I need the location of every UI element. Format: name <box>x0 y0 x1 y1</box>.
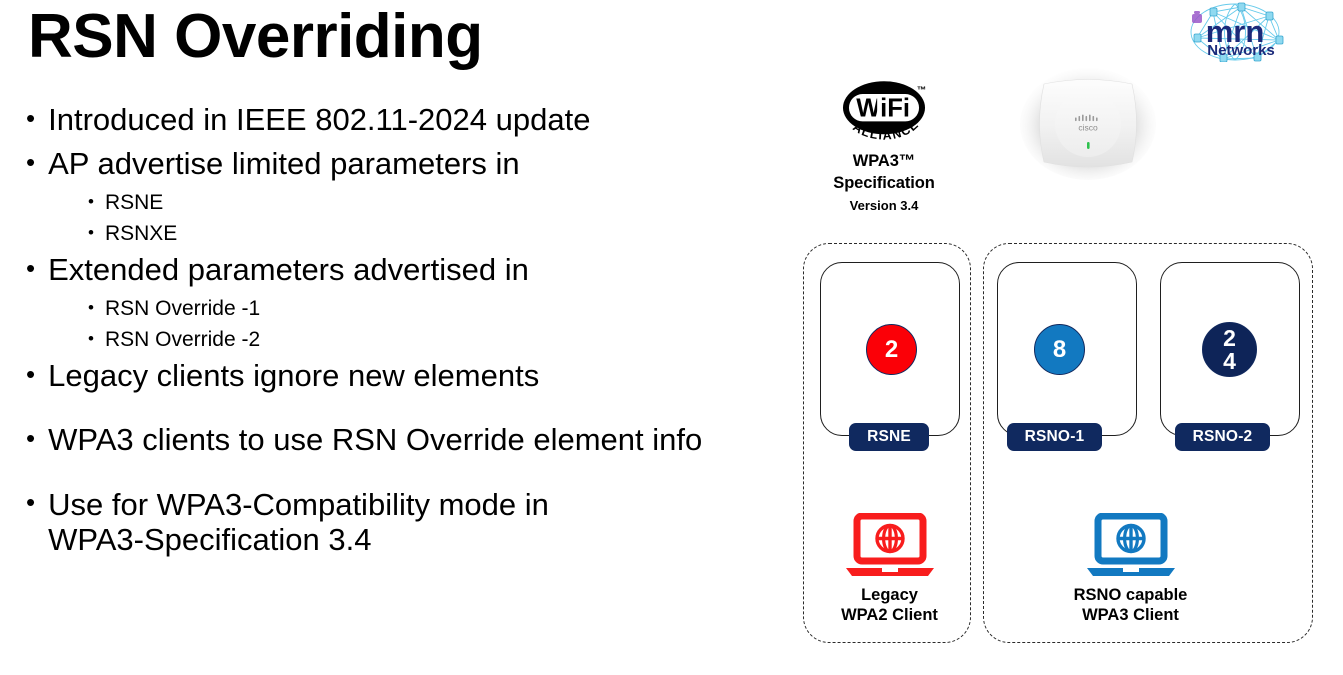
bullet-dot-icon: • <box>88 299 94 316</box>
legacy-client-caption: Legacy WPA2 Client <box>822 585 957 625</box>
caption-line1: RSNO capable <box>1048 585 1213 605</box>
wpa3-version: Version 3.4 <box>805 198 963 213</box>
caption-line2: WPA2 Client <box>822 605 957 625</box>
bullet-dot-icon: • <box>26 489 35 515</box>
bullet-item: •AP advertise limited parameters in <box>26 148 726 179</box>
bullet-text: Introduced in IEEE 802.11-2024 update <box>48 104 726 135</box>
bullet-dot-icon: • <box>88 193 94 210</box>
bullet-dot-icon: • <box>26 425 35 451</box>
bullet-item: •WPA3 clients to use RSN Override elemen… <box>26 424 726 455</box>
bullet-list: •Introduced in IEEE 802.11-2024 update•A… <box>26 104 726 570</box>
bullet-dot-icon: • <box>88 224 94 241</box>
laptop-globe-icon <box>844 513 936 579</box>
rsno-client-block: RSNO capable WPA3 Client <box>1048 513 1213 625</box>
bullet-text: RSN Override -2 <box>105 329 726 350</box>
laptop-globe-icon <box>1085 513 1177 579</box>
bullet-item: •Legacy clients ignore new elements <box>26 360 726 391</box>
circle-value: 8 <box>1053 338 1066 361</box>
bullet-item: •RSNE <box>88 192 726 213</box>
circle-value-top: 2 <box>1223 327 1236 349</box>
wpa3-caption-line1: WPA3™ <box>805 151 963 173</box>
bullet-text: RSNXE <box>105 223 726 244</box>
cisco-access-point-image: cisco <box>1018 62 1158 182</box>
bullet-item: •RSN Override -1 <box>88 298 726 319</box>
bullet-text: AP advertise limited parameters in <box>48 148 726 179</box>
bullet-item: •Use for WPA3-Compatibility mode in WPA3… <box>26 488 726 557</box>
bullet-item: •Extended parameters advertised in <box>26 254 726 285</box>
bullet-item: •RSN Override -2 <box>88 329 726 350</box>
bullet-dot-icon: • <box>26 149 35 175</box>
mrn-submark: Networks <box>1207 42 1275 59</box>
bullet-dot-icon: • <box>88 330 94 347</box>
legacy-client-block: Legacy WPA2 Client <box>822 513 957 625</box>
wifi-alliance-logo: WiFi ™ ALLIANCE <box>837 76 931 148</box>
bullet-dot-icon: • <box>26 105 35 131</box>
element-circle-rsno1: 8 <box>1034 324 1085 375</box>
bullet-text: Legacy clients ignore new elements <box>48 360 726 391</box>
wpa3-spec-block: WiFi ™ ALLIANCE WPA3™ Specification Vers… <box>805 76 963 213</box>
element-circle-rsne: 2 <box>866 324 917 375</box>
circle-value: 2 <box>885 338 898 361</box>
bullet-dot-icon: • <box>26 255 35 281</box>
bullet-text: RSNE <box>105 192 726 213</box>
rsno-client-caption: RSNO capable WPA3 Client <box>1048 585 1213 625</box>
bullet-text: RSN Override -1 <box>105 298 726 319</box>
caption-line2: WPA3 Client <box>1048 605 1213 625</box>
tag-rsne: RSNE <box>849 423 929 451</box>
bullet-item: •Introduced in IEEE 802.11-2024 update <box>26 104 726 135</box>
svg-text:™: ™ <box>917 84 926 95</box>
bullet-dot-icon: • <box>26 361 35 387</box>
page-title: RSN Overriding <box>28 4 483 69</box>
bullet-text: WPA3 clients to use RSN Override element… <box>48 424 726 455</box>
caption-line1: Legacy <box>822 585 957 605</box>
tag-rsno1: RSNO-1 <box>1007 423 1102 451</box>
bullet-item: •RSNXE <box>88 223 726 244</box>
wpa3-caption-line2: Specification <box>805 173 963 195</box>
wpa3-caption: WPA3™ Specification <box>805 151 963 195</box>
bullet-text: Extended parameters advertised in <box>48 254 726 285</box>
mrn-networks-logo: mrn Networks <box>1183 2 1287 62</box>
bullet-text: Use for WPA3-Compatibility mode in WPA3-… <box>48 488 648 557</box>
circle-value-bottom: 4 <box>1223 350 1236 372</box>
tag-rsno2: RSNO-2 <box>1175 423 1270 451</box>
svg-text:WiFi: WiFi <box>856 94 910 122</box>
element-circle-rsno2: 2 4 <box>1202 322 1257 377</box>
cisco-brandmark: cisco <box>1078 123 1098 133</box>
status-led <box>1087 142 1090 149</box>
